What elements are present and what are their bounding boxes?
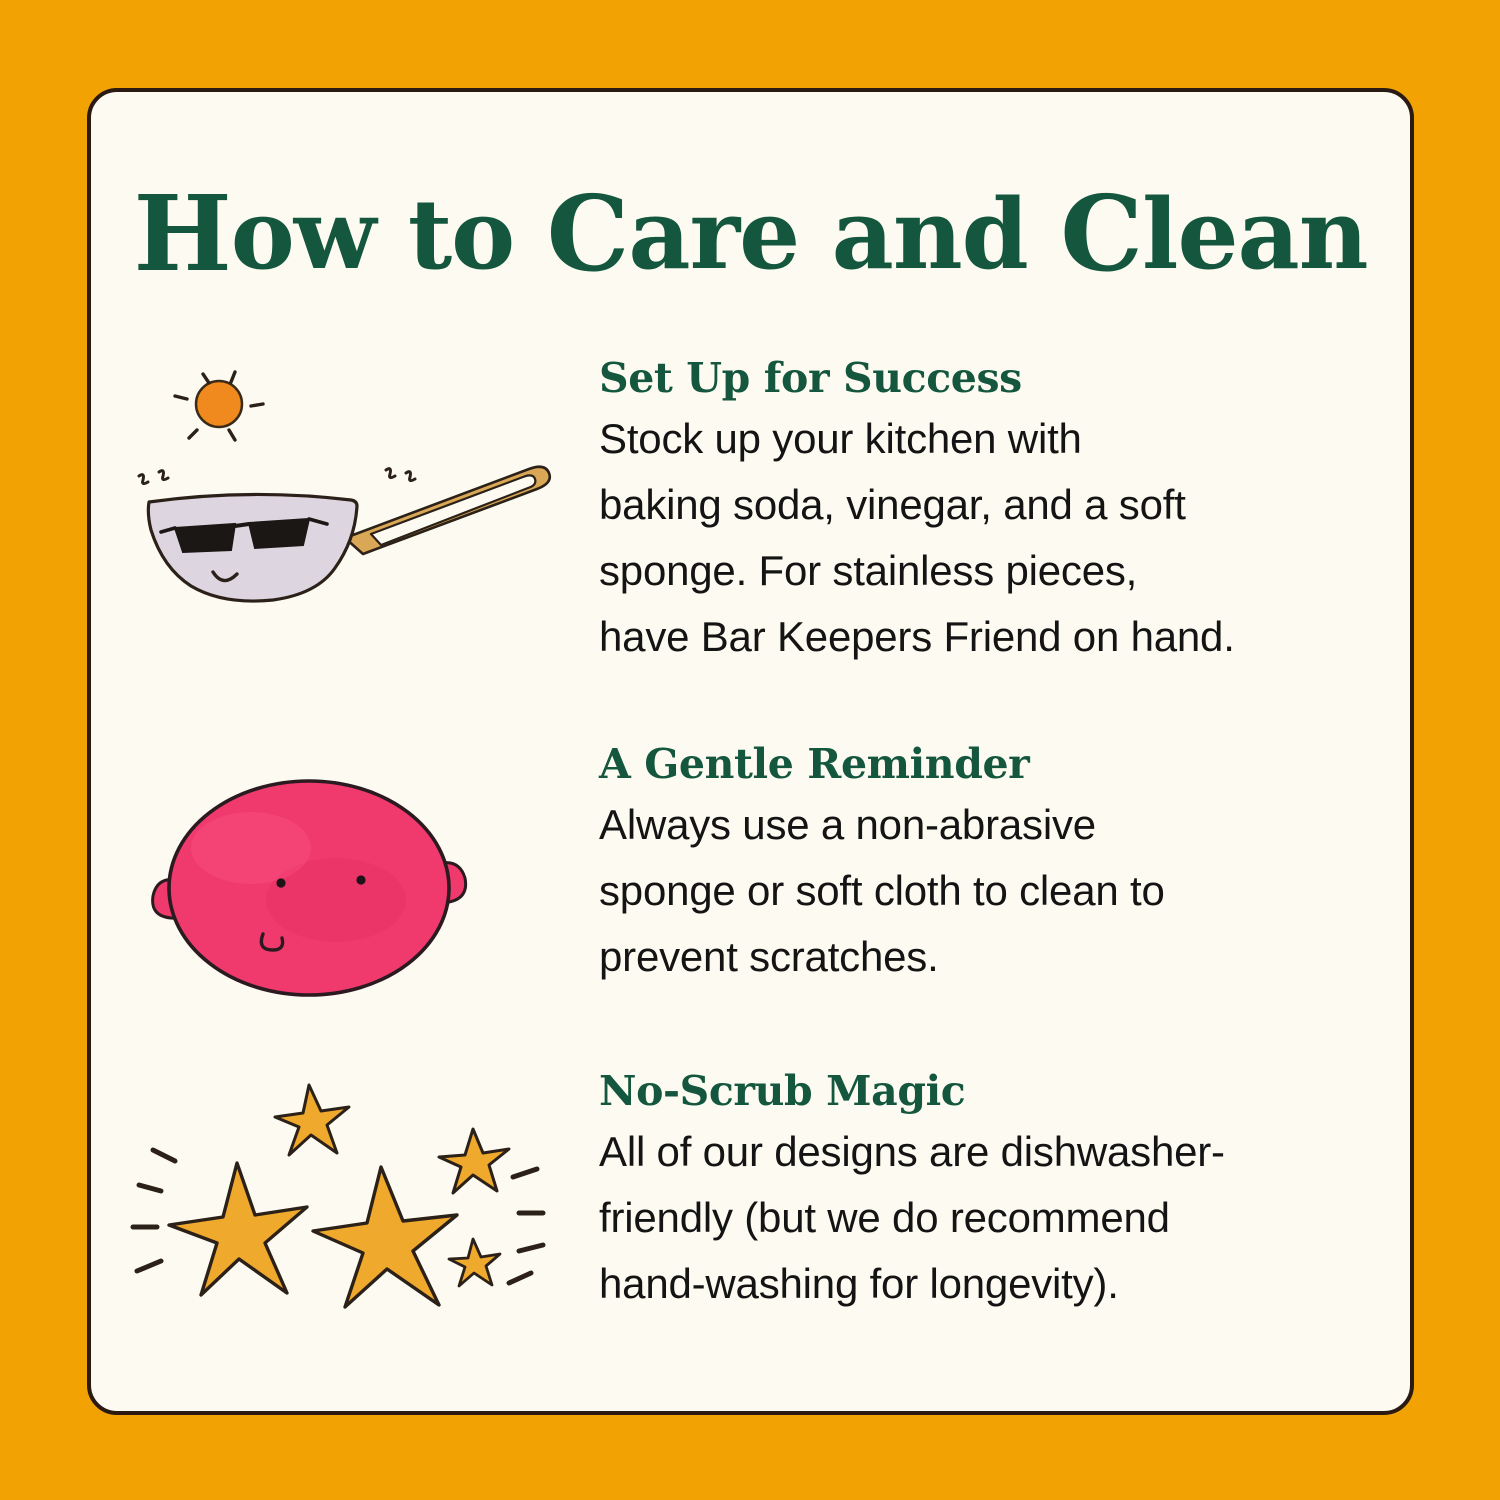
star-large-left (169, 1163, 307, 1295)
body-line: hand-washing for longevity). (599, 1251, 1369, 1317)
section-no-scrub-magic: No-Scrub Magic All of our designs are di… (91, 1067, 1410, 1367)
title-part-c2: C (1060, 182, 1142, 286)
sparkle-marks-right (386, 469, 415, 481)
body-line: prevent scratches. (599, 924, 1369, 990)
body-line: sponge or soft cloth to clean to (599, 858, 1369, 924)
copy-a-gentle-reminder: A Gentle Reminder Always use a non-abras… (599, 740, 1369, 990)
sparkle-marks-left (139, 471, 168, 484)
body-line: friendly (but we do recommend (599, 1185, 1369, 1251)
copy-no-scrub-magic: No-Scrub Magic All of our designs are di… (599, 1067, 1369, 1317)
pan-body (148, 494, 357, 601)
illustration-pink-sponge-face (131, 740, 591, 1040)
frying-pan-svg (131, 354, 591, 654)
body-line: sponge. For stainless pieces, (599, 538, 1369, 604)
title-part-c1: C (547, 182, 629, 286)
title-part-are-and: are and (628, 178, 1060, 291)
info-card: How to Care and Clean (87, 88, 1414, 1415)
star-small-top (275, 1085, 349, 1155)
title-part-ow-to: ow to (231, 178, 547, 291)
body-no-scrub-magic: All of our designs are dishwasher- frien… (599, 1119, 1369, 1317)
copy-set-up-for-success: Set Up for Success Stock up your kitchen… (599, 354, 1369, 670)
heading-a-gentle-reminder: A Gentle Reminder (599, 740, 1369, 788)
star-small-right (439, 1129, 509, 1193)
illustration-frying-pan (131, 354, 591, 654)
body-line: have Bar Keepers Friend on hand. (599, 604, 1369, 670)
sponge-right-eye (356, 875, 365, 884)
page-title: How to Care and Clean (91, 180, 1410, 284)
star-large-right (313, 1167, 457, 1307)
heading-set-up-for-success: Set Up for Success (599, 354, 1369, 402)
body-line: baking soda, vinegar, and a soft (599, 472, 1369, 538)
radiating-dashes-left (133, 1150, 175, 1271)
sponge-left-eye (276, 878, 285, 887)
body-line: Stock up your kitchen with (599, 406, 1369, 472)
care-and-clean-card-page: How to Care and Clean (0, 0, 1500, 1500)
body-set-up-for-success: Stock up your kitchen with baking soda, … (599, 406, 1369, 670)
star-tiny-right (449, 1239, 500, 1286)
radiating-dashes-right (509, 1169, 543, 1283)
stars-svg (131, 1067, 591, 1367)
title-part-lean: lean (1142, 178, 1368, 291)
pink-sponge-svg (131, 740, 591, 1040)
body-a-gentle-reminder: Always use a non-abrasive sponge or soft… (599, 792, 1369, 990)
section-set-up-for-success: Set Up for Success Stock up your kitchen… (91, 354, 1410, 654)
sponge-highlight (191, 812, 311, 884)
sun-icon (175, 372, 263, 440)
section-a-gentle-reminder: A Gentle Reminder Always use a non-abras… (91, 740, 1410, 1040)
body-line: Always use a non-abrasive (599, 792, 1369, 858)
illustration-sparkling-stars (131, 1067, 591, 1367)
pan-handle (345, 467, 550, 554)
heading-no-scrub-magic: No-Scrub Magic (599, 1067, 1369, 1115)
title-part-h: H (133, 182, 230, 286)
body-line: All of our designs are dishwasher- (599, 1119, 1369, 1185)
